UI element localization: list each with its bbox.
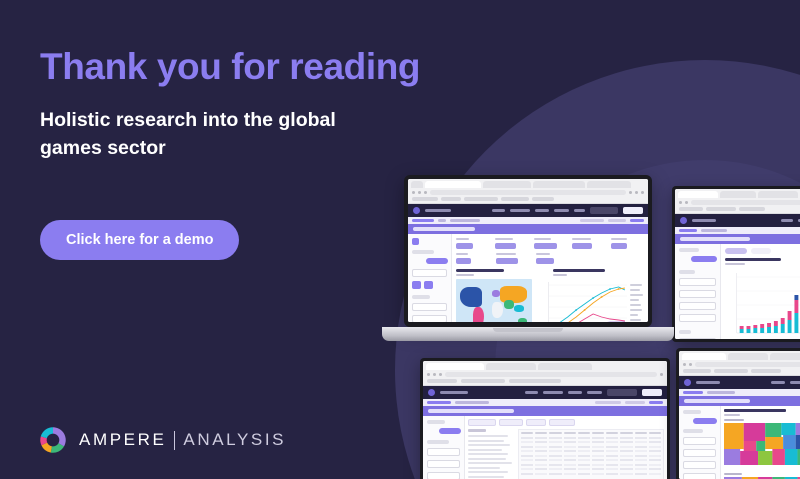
chart-subtitle [553,274,567,276]
nav-item[interactable] [525,391,538,394]
treemap-main [721,406,800,479]
browser-tab[interactable] [770,353,800,360]
nav-item-data[interactable] [492,209,505,212]
tab-table[interactable] [751,248,771,254]
kpi-card [456,238,489,249]
filter-select[interactable] [427,448,460,456]
bookmarks-bar[interactable] [408,197,648,203]
breadcrumb-bar-4[interactable] [679,389,800,396]
land-south-america [473,307,484,322]
filter-select[interactable] [679,314,716,322]
filter-label [427,420,445,424]
forward-icon[interactable] [418,191,421,194]
filter-label [683,410,701,414]
sidebar-icon[interactable] [412,238,419,245]
filter-sidebar-4[interactable] [679,406,721,479]
page-title: Thank you for reading [40,48,440,87]
toolbar-apply[interactable] [649,401,663,404]
browser-chrome [408,179,648,204]
bookmark-item[interactable] [751,369,781,373]
bookmark-item[interactable] [714,369,748,373]
browser-tab[interactable] [486,363,536,370]
row-header-column [468,429,514,479]
browser-tabstrip-4[interactable] [679,351,800,360]
kpi-card-empty [576,253,644,264]
filter-chip[interactable] [468,419,496,426]
page-title [413,227,475,231]
browser-tab-active[interactable] [425,181,481,188]
breadcrumb-current[interactable] [455,401,489,404]
export-button[interactable] [623,207,643,214]
browser-chrome-3 [423,361,667,386]
browser-tab[interactable] [533,181,585,188]
browser-tab[interactable] [538,363,592,370]
kpi-card [611,238,644,249]
app-navbar[interactable] [408,204,648,217]
browser-addressbar-4[interactable] [679,360,800,369]
export-button[interactable] [642,389,662,396]
app-brand-label [440,391,468,394]
filter-select[interactable] [683,449,716,457]
dashboard-body-3 [423,416,667,479]
filter-select[interactable] [683,437,716,445]
land-sea [514,305,524,312]
toolbar-select[interactable] [580,219,604,222]
bookmark-item[interactable] [412,197,438,201]
breadcrumb-home[interactable] [412,219,434,222]
browser-tab-active[interactable] [678,191,718,198]
tab-chart[interactable] [725,248,747,254]
chart-subtitle-2 [725,263,745,265]
filter-chips[interactable] [468,419,664,426]
filter-sidebar[interactable] [408,234,452,322]
browser-addressbar[interactable] [408,188,648,197]
land-oceania [518,318,527,322]
account-button[interactable] [607,389,637,396]
browser-tabstrip-2[interactable] [675,189,800,198]
app-logo-icon [684,379,691,386]
filter-label-2 [427,440,449,444]
filter-select[interactable] [683,473,716,479]
bookmark-item[interactable] [501,197,529,201]
bookmark-item[interactable] [706,207,736,211]
nav-item-tools[interactable] [574,209,585,212]
data-table-device [420,358,670,479]
treemap-screen [679,351,800,479]
laptop-device [404,175,652,327]
toolbar-select[interactable] [595,401,621,404]
line-chart-svg [538,279,644,322]
kpi-card [495,238,528,249]
window-bezel [420,358,670,479]
browser-tab-active[interactable] [682,353,726,360]
page-title-bar [408,224,648,234]
toolbar-select-2[interactable] [625,401,645,404]
filter-chip[interactable] [499,419,523,426]
app-brand-label [692,219,716,222]
back-icon[interactable] [412,191,415,194]
back-icon[interactable] [427,373,430,376]
logo-wordmark: AMPERE ANALYSIS [79,430,286,450]
browser-chrome-2 [675,189,800,214]
dashboard-main-2 [721,244,800,339]
url-field[interactable] [695,362,800,367]
toolbar-select-2[interactable] [608,219,626,222]
forward-icon[interactable] [433,373,436,376]
app-logo-icon [428,389,435,396]
breadcrumb-home[interactable] [679,229,697,232]
land-africa [492,302,503,318]
land-europe [492,290,500,297]
profile-icon[interactable] [635,191,638,194]
map-title [456,269,504,272]
breadcrumb-home[interactable] [427,401,451,404]
bookmark-item[interactable] [509,379,561,383]
breadcrumb-bar-3[interactable] [423,399,667,406]
nav-item-schedules[interactable] [510,209,530,212]
filter-chip[interactable] [526,419,546,426]
filter-group-label [412,250,434,254]
back-icon[interactable] [679,201,682,204]
breadcrumb-sep [438,219,446,222]
ampere-donut-icon [38,425,68,455]
nav-item[interactable] [568,391,582,394]
browser-tab[interactable] [728,353,768,360]
filter-select[interactable] [679,302,716,310]
apply-button[interactable] [439,428,461,434]
bookmark-item[interactable] [679,207,703,211]
filter-select[interactable] [427,472,460,479]
treemap-section-label-na [724,419,744,421]
filter-select-1[interactable] [412,303,447,311]
laptop-base [382,327,674,341]
bookmarks-bar-3[interactable] [423,379,667,385]
filter-label-3 [679,330,691,334]
bookmark-item[interactable] [683,369,711,373]
reload-icon[interactable] [424,191,427,194]
bookmark-item[interactable] [739,207,765,211]
kpi-card [534,238,567,249]
app-brand-label [696,381,720,384]
ampere-analysis-logo: AMPERE ANALYSIS [38,425,286,455]
back-icon[interactable] [683,363,686,366]
bookmarks-bar-2[interactable] [675,207,800,213]
breadcrumb-current[interactable] [707,391,735,394]
apply-button[interactable] [693,418,717,424]
app-logo-icon [413,207,420,214]
treemap-north-america[interactable] [724,423,800,465]
map-subtitle [456,274,474,276]
nav-item[interactable] [543,391,563,394]
logo-ampere-text: AMPERE [79,430,166,450]
stacked-bar-svg [725,269,800,339]
hero-copy: Thank you for reading Holistic research … [40,48,440,162]
dashboard-body-4 [679,406,800,479]
menu-icon[interactable] [660,373,663,376]
page-subtitle: Holistic research into the global games … [40,107,385,162]
kpi-card [536,253,570,264]
bookmark-item[interactable] [441,197,461,201]
app-brand-label [425,209,451,212]
dashboard-main [452,234,648,322]
bookmark-item[interactable] [427,379,457,383]
filter-label-2 [679,270,695,274]
logo-analysis-text: ANALYSIS [183,430,286,450]
land-north-america [460,287,482,307]
filter-group-label-2 [412,295,430,299]
laptop-screen [408,179,648,322]
logo-divider [174,431,175,450]
chart-title-2 [725,258,781,261]
browser-tab[interactable] [720,191,756,198]
filter-input[interactable] [412,269,447,277]
filter-label [679,248,699,252]
app-navbar-3[interactable] [423,386,667,399]
url-field[interactable] [691,200,800,205]
kpi-row [456,238,644,249]
nav-item-search[interactable] [535,209,549,212]
forward-icon[interactable] [689,363,692,366]
dashboard-body-2 [675,244,800,339]
laptop-notch [493,328,563,332]
breadcrumb-current[interactable] [450,219,480,222]
page-title [680,237,750,241]
app-navbar-4[interactable] [679,376,800,389]
bookmark-item[interactable] [464,197,498,201]
page-title-bar-4 [679,396,800,406]
treemap-title [724,409,786,412]
page-title [428,409,514,413]
browser-tab[interactable] [411,181,423,188]
forward-icon[interactable] [685,201,688,204]
line-chart[interactable] [538,279,644,322]
kpi-row-2 [456,253,644,264]
treemap-section-label-we [724,473,742,475]
apply-filter-button[interactable] [426,258,448,264]
filter-select[interactable] [427,460,460,468]
kpi-card [572,238,605,249]
breadcrumb-bar[interactable] [408,217,648,224]
tablet-bezel [672,186,800,342]
nav-item[interactable] [771,381,785,384]
toggle-a[interactable] [412,281,421,289]
reload-icon[interactable] [439,373,442,376]
stacked-bar-chart[interactable] [725,269,800,339]
bookmark-item[interactable] [461,379,505,383]
dashboard-body [408,234,648,322]
browser-tabstrip-3[interactable] [423,361,667,370]
treemap-subtitle [724,414,740,416]
filter-select[interactable] [679,278,716,286]
nav-item[interactable] [781,219,793,222]
tablet-screen [675,189,800,339]
land-south-asia [504,300,514,309]
treemap-bezel [676,348,800,479]
browser-addressbar-2[interactable] [675,198,800,207]
filter-chip[interactable] [549,419,575,426]
page-title-bar-3 [423,406,667,416]
url-field[interactable] [430,190,626,195]
apply-button[interactable] [691,256,717,262]
app-navbar-2[interactable] [675,214,800,227]
account-button[interactable] [590,207,618,214]
demo-cta-button[interactable]: Click here for a demo [40,220,239,260]
filter-select[interactable] [683,461,716,469]
promo-banner: Thank you for reading Holistic research … [0,0,800,479]
browser-tab[interactable] [758,191,798,198]
browser-addressbar-3[interactable] [423,370,667,379]
chart-title [553,269,605,272]
browser-tab[interactable] [483,181,531,188]
toolbar-apply[interactable] [630,219,644,222]
page-title-bar-2 [675,234,800,244]
browser-chrome-4 [679,351,800,376]
filter-sidebar-3[interactable] [423,416,465,479]
nav-item[interactable] [790,381,800,384]
laptop-bezel [404,175,652,327]
kpi-card [496,253,530,264]
filter-select-2[interactable] [412,315,447,322]
table-screen [423,361,667,479]
breadcrumb-current[interactable] [701,229,727,232]
filter-label-2 [683,429,703,433]
bookmarks-bar-4[interactable] [679,369,800,375]
nav-item[interactable] [587,391,602,394]
treemap-device [676,348,800,479]
filter-sidebar-2[interactable] [675,244,721,339]
data-grid[interactable] [518,429,664,479]
chart-legend [630,284,643,322]
page-title [684,399,750,403]
stacked-bar-device [672,186,800,342]
nav-item-insights[interactable] [554,209,569,212]
menu-icon[interactable] [641,191,644,194]
filter-select[interactable] [679,338,716,339]
browser-tabstrip[interactable] [408,179,648,188]
breadcrumb-bar-2[interactable] [675,227,800,234]
app-logo-icon [680,217,687,224]
filter-select[interactable] [679,290,716,298]
table-main [465,416,667,479]
browser-tab-active[interactable] [426,363,484,370]
world-map[interactable] [456,279,532,322]
bookmark-icon[interactable] [629,191,632,194]
toggle-b[interactable] [424,281,433,289]
kpi-card [456,253,490,264]
bookmark-item[interactable] [532,197,554,201]
browser-tab[interactable] [587,181,631,188]
breadcrumb-home[interactable] [683,391,703,394]
url-field[interactable] [445,372,657,377]
